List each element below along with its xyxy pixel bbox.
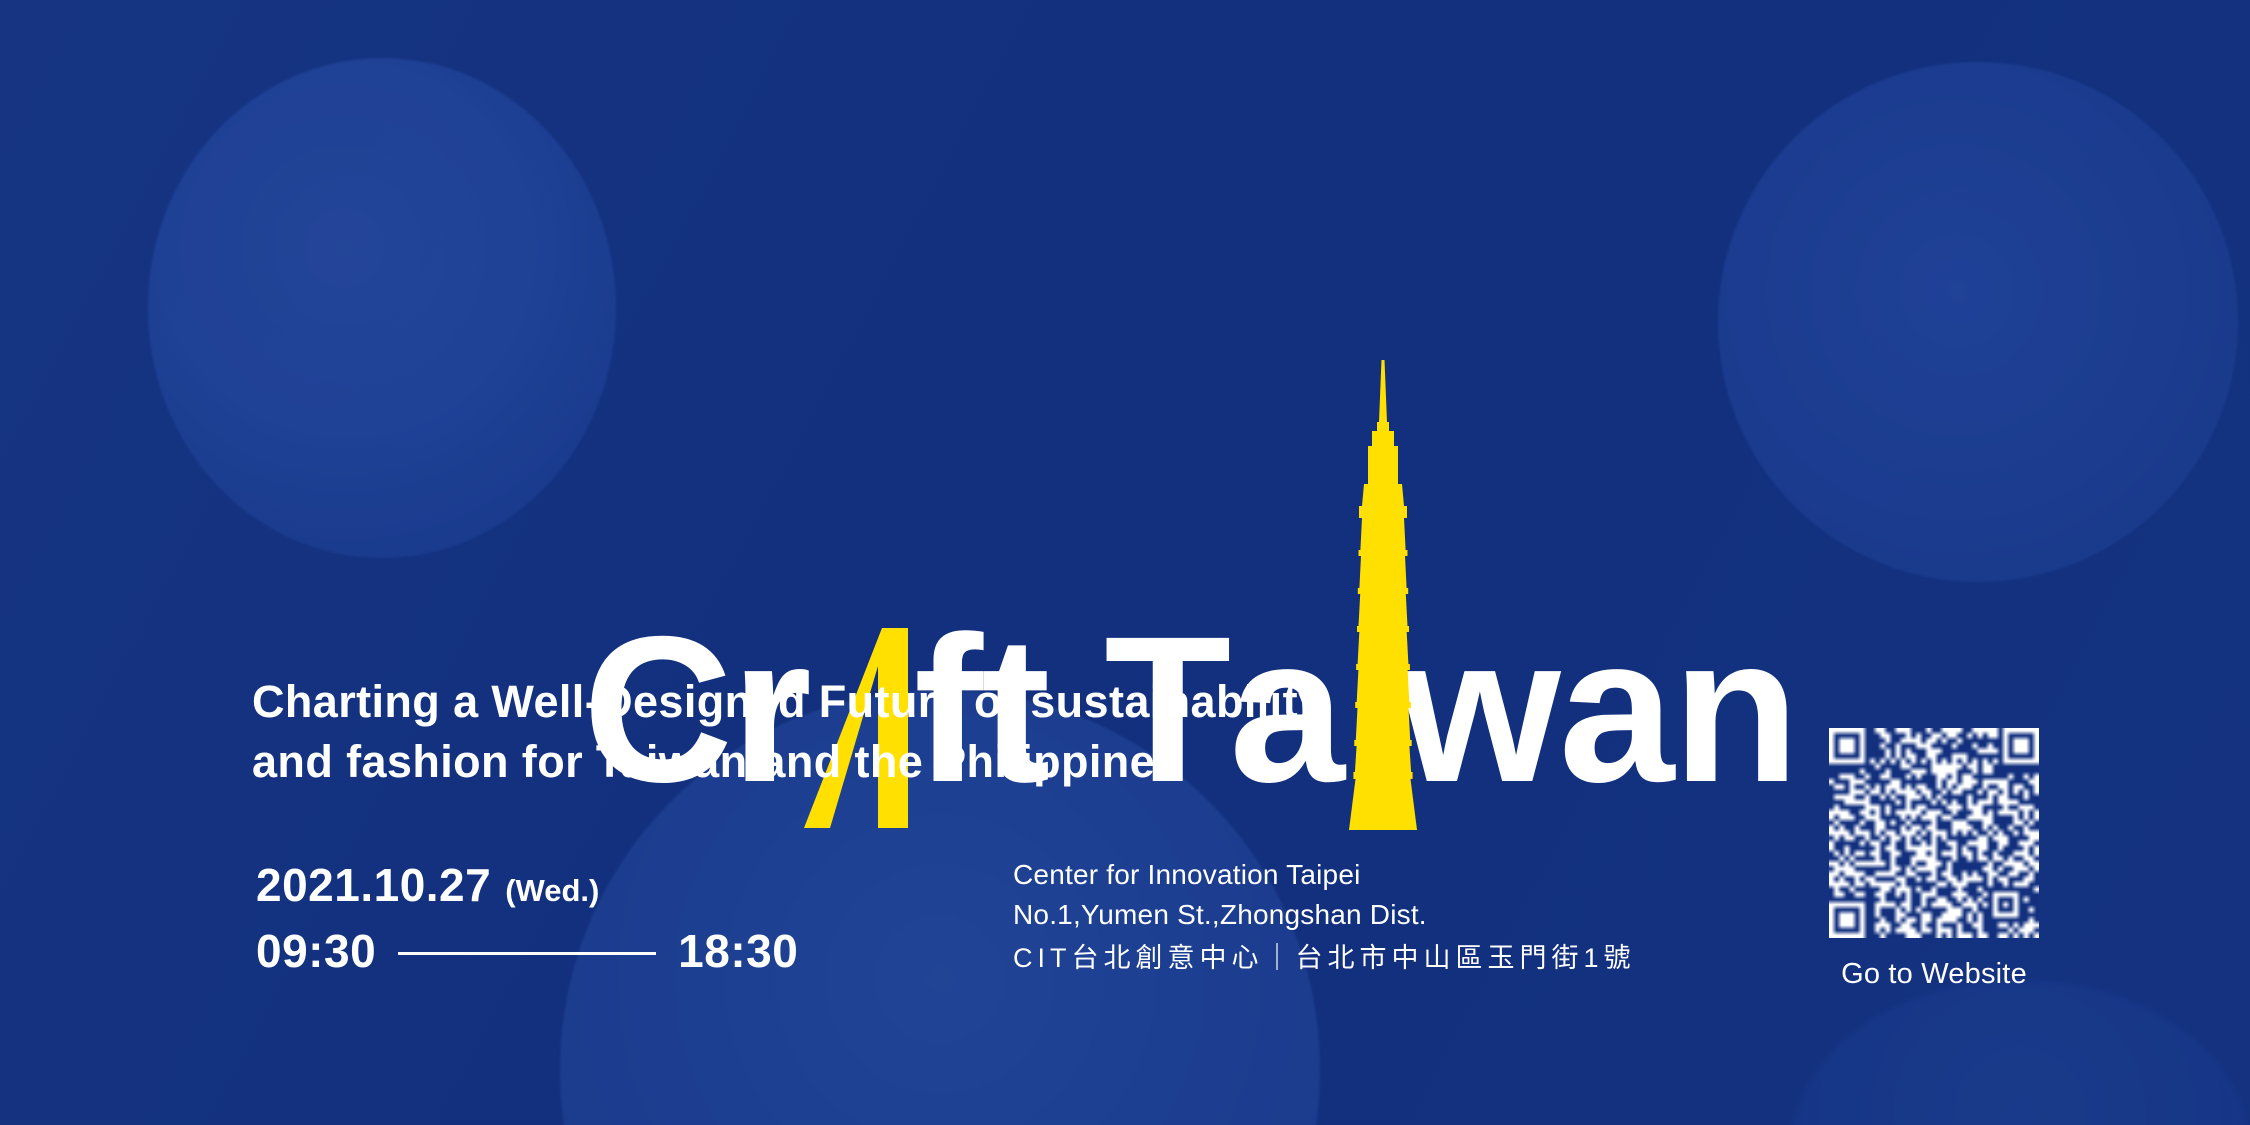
venue-address-zh: CIT台北創意中心｜台北市中山區玉門街1號: [1013, 939, 1636, 978]
event-banner: Crft Ta: [0, 0, 2250, 1125]
event-time-start: 09:30: [256, 924, 376, 978]
venue-info: Center for Innovation Taipei No.1,Yumen …: [1013, 855, 1636, 978]
event-datetime: 2021.10.27 (Wed.) 09:30 18:30: [256, 858, 798, 978]
qr-code-icon[interactable]: [1829, 728, 2039, 938]
event-day-of-week: (Wed.): [505, 873, 599, 909]
page-title: Crft Ta: [248, 398, 1797, 588]
event-date: 2021.10.27: [256, 858, 491, 912]
subtitle-line-2: and fashion for Taiwan and the Philippin…: [252, 732, 1752, 792]
qr-code-block[interactable]: Go to Website: [1829, 728, 2039, 991]
venue-name-en: Center for Innovation Taipei: [1013, 855, 1636, 895]
time-range-divider: [398, 952, 656, 955]
qr-code-label: Go to Website: [1841, 958, 2027, 991]
subtitle-line-1: Charting a Well-Designed Future of susta…: [252, 672, 1752, 732]
decorative-circle-bottom-right: [1790, 980, 2250, 1125]
event-time-row: 09:30 18:30: [256, 924, 798, 978]
event-date-row: 2021.10.27 (Wed.): [256, 858, 798, 912]
subtitle: Charting a Well-Designed Future of susta…: [252, 672, 1752, 792]
event-time-end: 18:30: [678, 924, 798, 978]
venue-address-en: No.1,Yumen St.,Zhongshan Dist.: [1013, 895, 1636, 935]
